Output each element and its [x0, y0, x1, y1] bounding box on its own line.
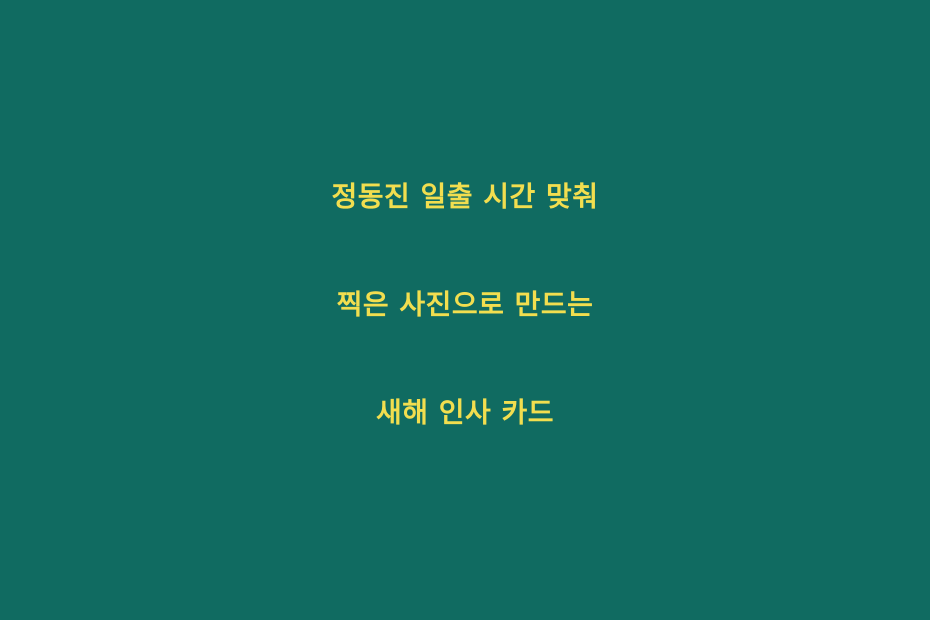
headline-line-2: 찍은 사진으로 만드는 [40, 251, 890, 359]
headline-line-1: 정동진 일출 시간 맞춰 [40, 143, 890, 251]
greeting-card-image: 정동진 일출 시간 맞춰 찍은 사진으로 만드는 새해 인사 카드 [0, 0, 930, 620]
headline-line-3: 새해 인사 카드 [40, 359, 890, 467]
headline-text-block: 정동진 일출 시간 맞춰 찍은 사진으로 만드는 새해 인사 카드 [0, 143, 930, 467]
